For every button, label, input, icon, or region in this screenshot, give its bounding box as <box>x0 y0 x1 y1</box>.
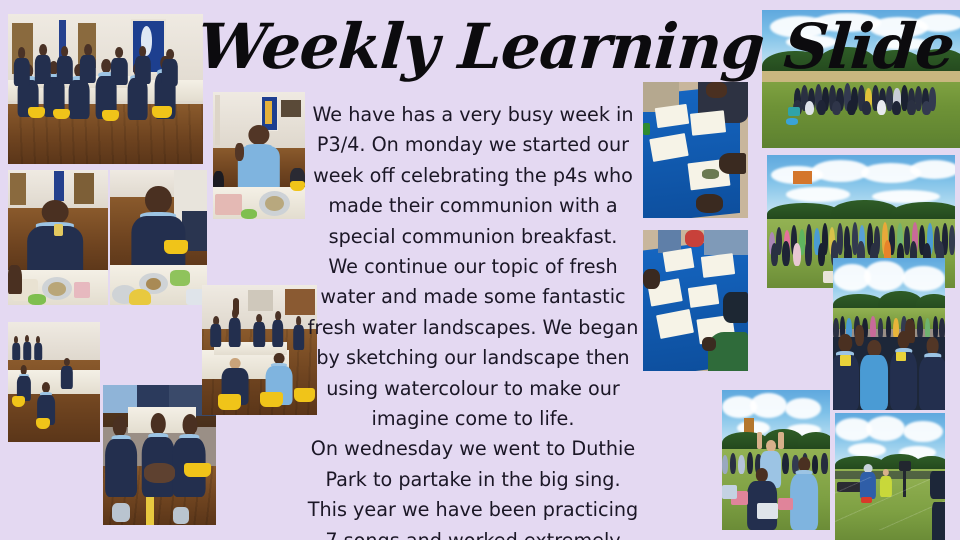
photo-artwork-table-top <box>643 82 748 218</box>
photo-park-stage <box>835 413 945 540</box>
photo-hands-together <box>103 385 216 525</box>
slide-body-text: We have has a very busy week in P3/4. On… <box>303 100 643 540</box>
page-title: Weekly Learning Slide <box>196 14 771 80</box>
photo-pupil-breakfast-solo <box>213 92 305 219</box>
photo-table-celebration <box>202 285 317 415</box>
photo-big-sing-singing <box>833 258 945 410</box>
photo-artwork-table-bottom <box>643 230 748 371</box>
body-paragraph-3: On wednesday we went to Duthie Park to p… <box>303 434 643 540</box>
photo-class-seated-hall <box>8 14 203 164</box>
photo-hall-wide <box>8 322 100 442</box>
photo-pupil-portrait-right <box>110 170 207 305</box>
body-paragraph-2: We continue our topic of fresh water and… <box>303 252 643 434</box>
photo-group-field <box>762 10 960 148</box>
photo-pupil-portrait-left <box>8 170 108 305</box>
body-paragraph-1: We have has a very busy week in P3/4. On… <box>303 100 643 252</box>
weekly-learning-slide: Weekly Learning Slide We have has a very… <box>0 0 960 540</box>
photo-big-sing-cheering <box>722 390 830 530</box>
